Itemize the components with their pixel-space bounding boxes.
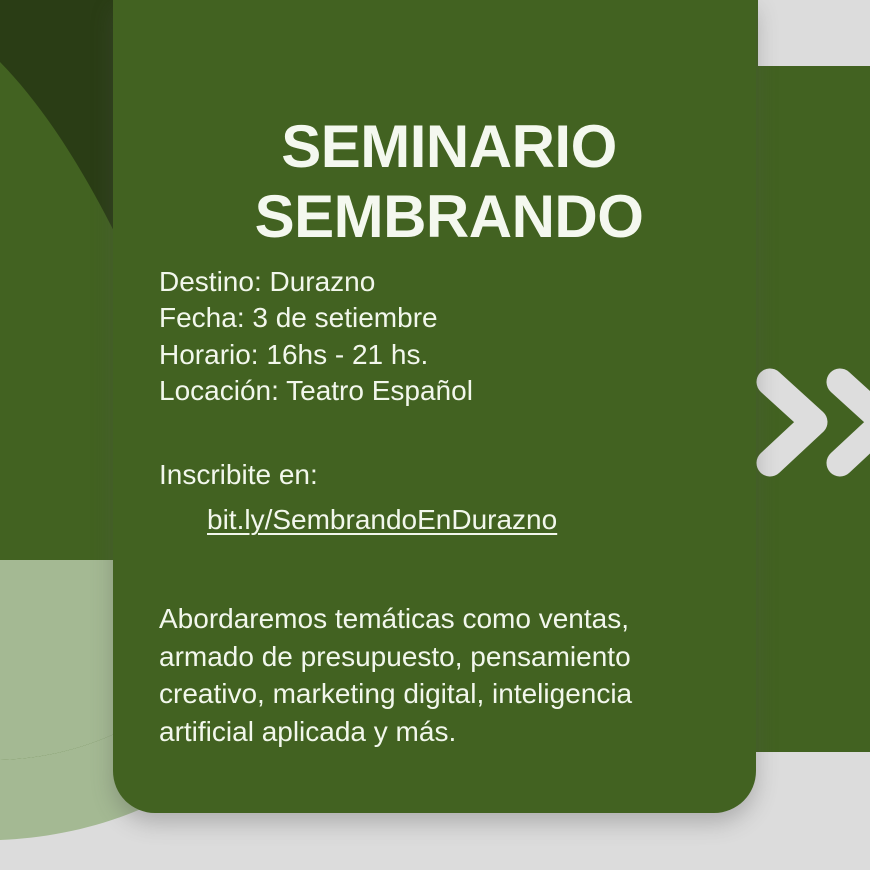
chevron-decoration-group [752,360,870,485]
title-line-2: SEMBRANDO [159,182,739,252]
detail-horario: Horario: 16hs - 21 hs. [159,337,473,373]
poster-canvas: SEMINARIO SEMBRANDO Destino: Durazno Fec… [0,0,870,870]
signup-block: Inscribite en: bit.ly/SembrandoEnDurazno [159,457,557,539]
body-paragraph: Abordaremos temáticas como ventas, armad… [159,600,704,750]
top-right-notch [758,0,870,66]
signup-link[interactable]: bit.ly/SembrandoEnDurazno [207,502,557,538]
main-card: SEMINARIO SEMBRANDO Destino: Durazno Fec… [113,0,756,813]
card-content: SEMINARIO SEMBRANDO Destino: Durazno Fec… [159,0,734,813]
detail-fecha: Fecha: 3 de setiembre [159,300,473,336]
detail-locacion: Locación: Teatro Español [159,373,473,409]
event-details-list: Destino: Durazno Fecha: 3 de setiembre H… [159,264,473,410]
chevron-right-icon [770,382,814,463]
title-line-1: SEMINARIO [159,112,739,182]
page-title: SEMINARIO SEMBRANDO [159,112,739,252]
signup-label: Inscribite en: [159,457,557,493]
chevron-right-icon [840,382,870,463]
detail-destino: Destino: Durazno [159,264,473,300]
